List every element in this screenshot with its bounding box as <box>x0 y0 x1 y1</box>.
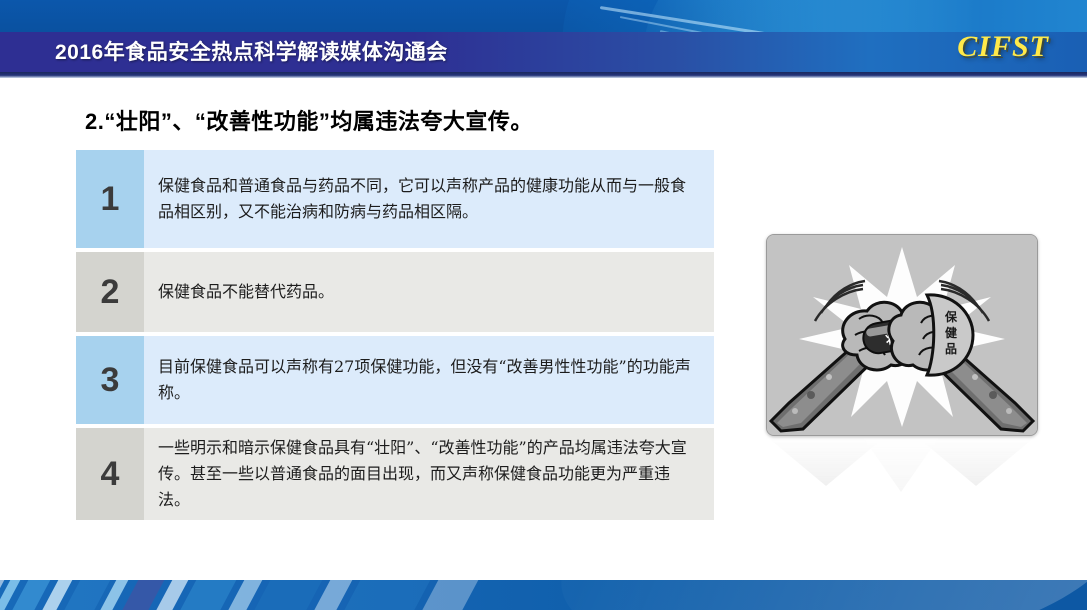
table-row: 2 保健食品不能替代药品。 <box>76 252 714 332</box>
row-number: 2 <box>76 252 144 332</box>
row-number: 4 <box>76 428 144 520</box>
row-number: 3 <box>76 336 144 424</box>
slide-footer <box>0 578 1087 610</box>
footer-arc-graphic <box>551 578 1087 610</box>
cifst-logo: CIFST <box>957 30 1049 64</box>
header-bottom-divider <box>0 72 1087 78</box>
header-top-strip <box>0 0 1087 32</box>
points-table: 1 保健食品和普通食品与药品不同，它可以声称产品的健康功能从而与一般食品相区别，… <box>76 150 714 524</box>
row-text: 目前保健食品可以声称有27项保健功能，但没有“改善男性性功能”的功能声称。 <box>144 336 714 424</box>
illustration-canvas: 壮阳药 <box>767 235 1037 435</box>
row-number: 1 <box>76 150 144 248</box>
header-title: 2016年食品安全热点科学解读媒体沟通会 <box>55 36 448 66</box>
row-text: 保健食品和普通食品与药品不同，它可以声称产品的健康功能从而与一般食品相区别，又不… <box>144 150 714 248</box>
shield-label-char-3: 品 <box>945 342 957 356</box>
row-text: 保健食品不能替代药品。 <box>144 252 714 332</box>
illustration-frame: 壮阳药 <box>766 234 1038 436</box>
illustration-figure: 壮阳药 <box>766 234 1036 434</box>
table-row: 1 保健食品和普通食品与药品不同，它可以声称产品的健康功能从而与一般食品相区别，… <box>76 150 714 248</box>
footer-top-edge <box>0 578 1087 580</box>
clash-illustration: 壮阳药 <box>767 235 1037 435</box>
shield-label-char-2: 健 <box>945 325 958 340</box>
page-title: 2.“壮阳”、“改善性功能”均属违法夸大宣传。 <box>85 104 533 136</box>
slide-header: 2016年食品安全热点科学解读媒体沟通会 CIFST <box>0 0 1087 78</box>
row-text: 一些明示和暗示保健食品具有“壮阳”、“改善性功能”的产品均属违法夸大宣传。甚至一… <box>144 428 714 520</box>
table-row: 3 目前保健食品可以声称有27项保健功能，但没有“改善男性性功能”的功能声称。 <box>76 336 714 424</box>
illustration-reflection <box>766 436 1036 510</box>
shield-label-char-1: 保 <box>944 309 958 324</box>
reflection-shape <box>766 436 1036 510</box>
table-row: 4 一些明示和暗示保健食品具有“壮阳”、“改善性功能”的产品均属违法夸大宣传。甚… <box>76 428 714 520</box>
